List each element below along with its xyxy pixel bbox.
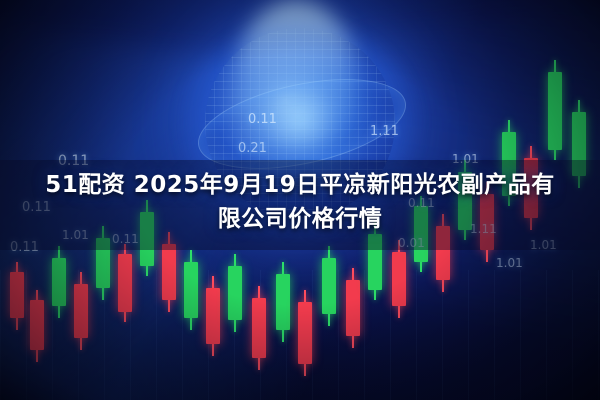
candlestick <box>346 268 360 348</box>
candlestick-body <box>206 288 220 344</box>
candlestick <box>298 290 312 376</box>
candlestick-body <box>52 258 66 306</box>
candlestick <box>322 246 336 326</box>
candlestick <box>184 250 198 330</box>
candlestick-body <box>252 298 266 358</box>
candlestick-body <box>228 266 242 320</box>
candlestick-body <box>346 280 360 336</box>
candlestick-body <box>10 272 24 318</box>
candlestick-body <box>74 284 88 338</box>
candlestick-body <box>322 258 336 314</box>
candlestick <box>392 240 406 318</box>
candlestick-body <box>548 72 562 150</box>
price-label: 0.11 <box>248 112 277 127</box>
candlestick-body <box>30 300 44 350</box>
light-beam <box>236 0 356 150</box>
candlestick <box>52 246 66 318</box>
price-label: 1.01 <box>496 256 523 270</box>
candlestick-body <box>184 262 198 318</box>
candlestick-body <box>162 244 176 300</box>
candlestick <box>206 276 220 356</box>
candlestick-body <box>118 254 132 312</box>
headline-band: 51配资 2025年9月19日平凉新阳光农副产品有 限公司价格行情 <box>0 160 600 250</box>
candlestick <box>10 262 24 330</box>
candlestick <box>228 254 242 332</box>
candlestick <box>276 262 290 342</box>
candlestick <box>74 272 88 350</box>
price-label: 0.21 <box>238 141 267 156</box>
candlestick <box>30 290 44 362</box>
price-label: 1.11 <box>370 124 399 139</box>
candlestick-body <box>392 252 406 306</box>
headline-line-1: 51配资 2025年9月19日平凉新阳光农副产品有 <box>22 168 578 202</box>
news-banner-image: 0.111.110.210.111.010.110.111.010.110.11… <box>0 0 600 400</box>
candlestick <box>548 60 562 160</box>
candlestick-body <box>298 302 312 364</box>
candlestick <box>252 286 266 370</box>
headline-line-2: 限公司价格行情 <box>22 202 578 236</box>
candlestick <box>118 244 132 322</box>
candlestick-body <box>276 274 290 330</box>
